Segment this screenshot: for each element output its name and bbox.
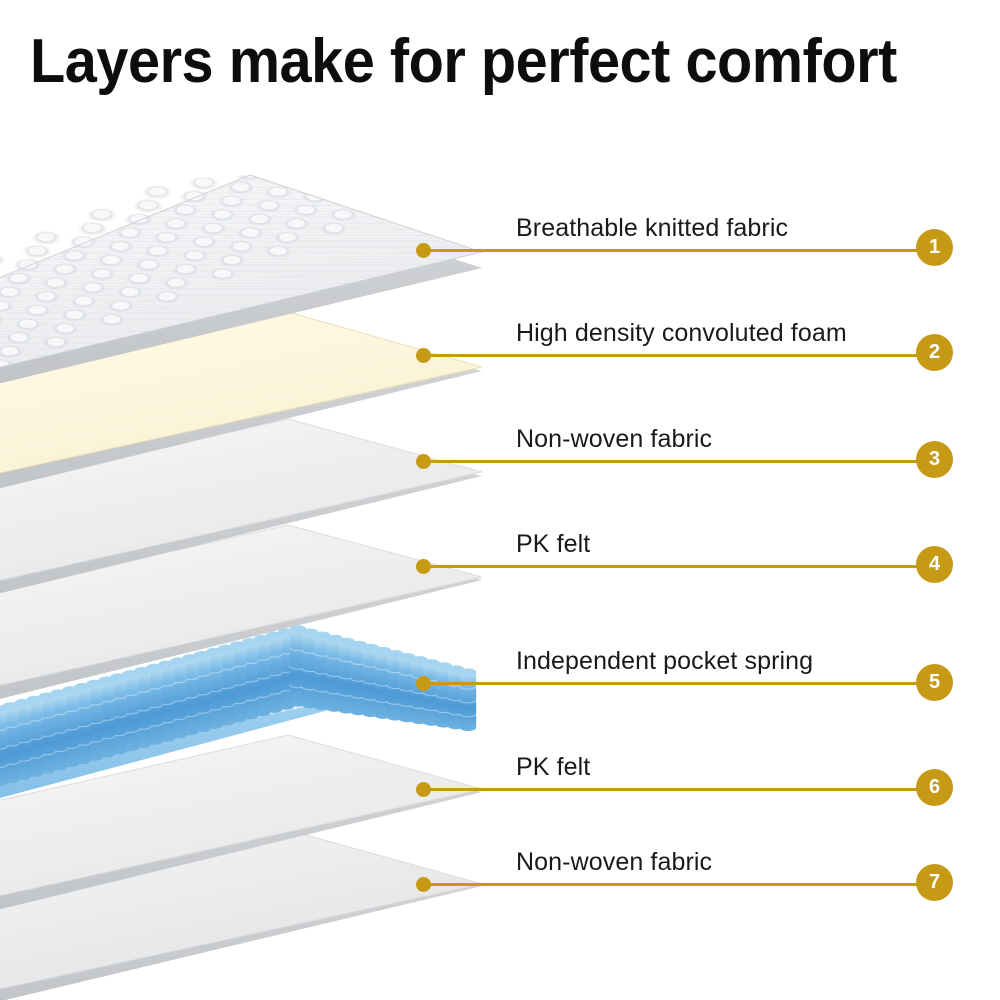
leader-dot-5 <box>416 676 431 691</box>
layer-label-1: Breathable knitted fabric <box>516 214 788 243</box>
layer-label-3: Non-woven fabric <box>516 425 712 454</box>
layer-number-badge-1[interactable]: 1 <box>916 229 953 266</box>
layer-number-badge-4[interactable]: 4 <box>916 546 953 583</box>
layer-label-4: PK felt <box>516 530 590 559</box>
layer-number-badge-2[interactable]: 2 <box>916 334 953 371</box>
infographic-canvas: Layers make for perfect comfort <box>0 0 1000 1000</box>
layer-label-6: PK felt <box>516 753 590 782</box>
leader-dot-3 <box>416 454 431 469</box>
leader-line-2 <box>427 354 934 357</box>
leader-dot-1 <box>416 243 431 258</box>
leader-dot-4 <box>416 559 431 574</box>
layer-label-5: Independent pocket spring <box>516 647 813 676</box>
layer-label-2: High density convoluted foam <box>516 319 847 348</box>
leader-line-1 <box>427 249 934 252</box>
leader-line-7 <box>427 883 934 886</box>
leader-dot-6 <box>416 782 431 797</box>
leader-line-5 <box>427 682 934 685</box>
leader-dot-2 <box>416 348 431 363</box>
leader-dot-7 <box>416 877 431 892</box>
leader-line-3 <box>427 460 934 463</box>
layer-number-badge-6[interactable]: 6 <box>916 769 953 806</box>
leader-line-4 <box>427 565 934 568</box>
layer-label-7: Non-woven fabric <box>516 848 712 877</box>
mattress-exploded-illustration <box>0 0 1000 1000</box>
leader-line-6 <box>427 788 934 791</box>
layer-number-badge-7[interactable]: 7 <box>916 864 953 901</box>
layer-number-badge-3[interactable]: 3 <box>916 441 953 478</box>
layer-number-badge-5[interactable]: 5 <box>916 664 953 701</box>
